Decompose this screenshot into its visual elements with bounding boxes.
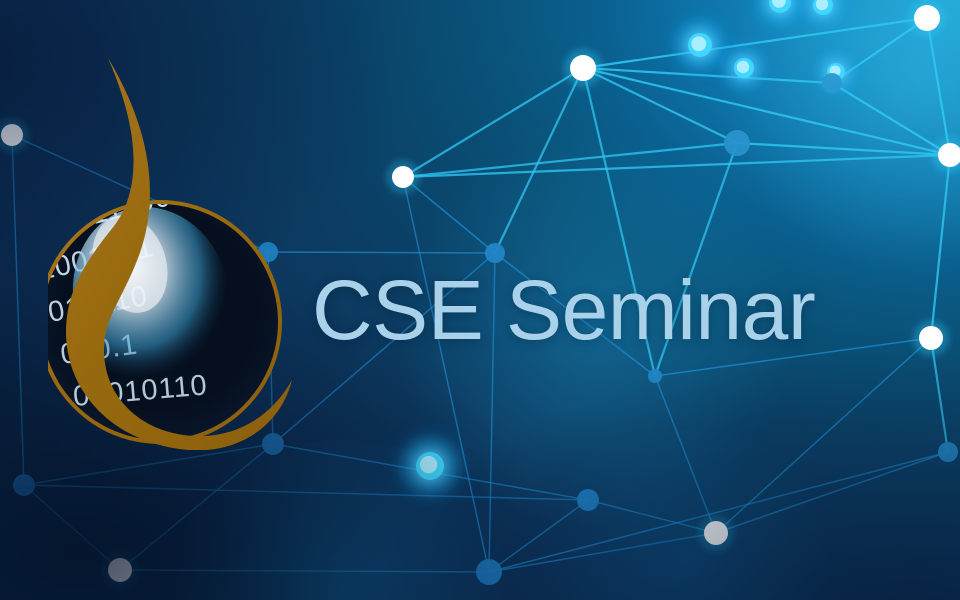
svg-text:101101: 101101 bbox=[48, 53, 154, 115]
cse-seminar-logo: 101101 1010110 00101010 11011100 1001011… bbox=[48, 50, 318, 450]
svg-text:00101010: 00101010 bbox=[48, 130, 188, 199]
page-title: CSE Seminar bbox=[312, 268, 815, 352]
cse-seminar-banner: 101101 1010110 00101010 11011100 1001011… bbox=[0, 0, 960, 600]
